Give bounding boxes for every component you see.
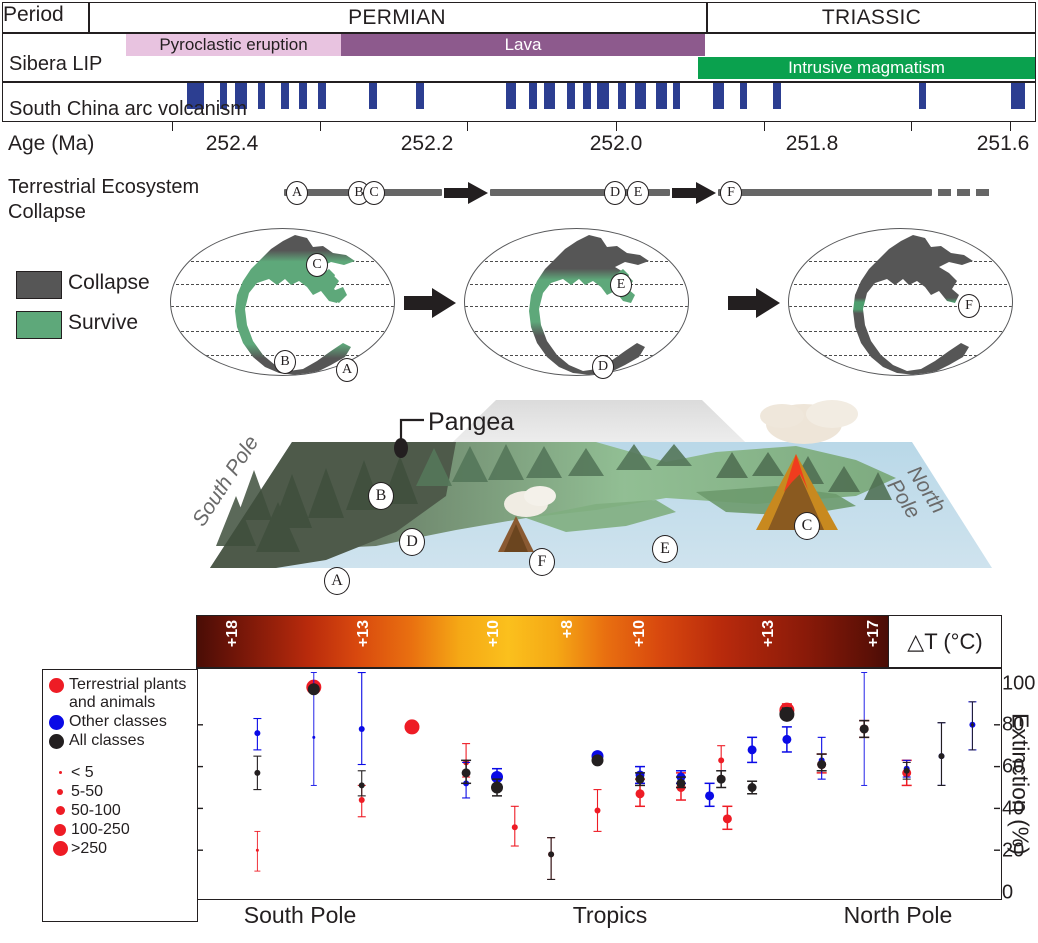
volcanism-bar: [740, 83, 747, 109]
eco-dash: [938, 189, 951, 196]
legend-size-row: >250: [49, 839, 191, 858]
data-point: [491, 782, 503, 794]
pangea-landmass-2: [465, 229, 689, 376]
legend-spacer: [49, 751, 191, 763]
volcanism-bar: [258, 83, 265, 109]
legend-size-dot: [56, 806, 65, 815]
legend-size-dot-slot: [49, 789, 71, 795]
scene-marker-e: E: [652, 535, 678, 563]
age-tick-label: 252.4: [206, 132, 259, 156]
volcanism-bar: [773, 83, 781, 109]
lip-band-pyroclastic: Pyroclastic eruption: [126, 34, 341, 56]
volcanism-bar: [1011, 83, 1025, 109]
sibera-lip-label: Sibera LIP: [9, 53, 102, 76]
volcanism-bar: [656, 83, 667, 109]
eco-dash: [957, 189, 970, 196]
data-point: [359, 797, 365, 803]
legend-size-row: < 5: [49, 763, 191, 782]
volcanism-label: South China arc volcanism: [9, 98, 247, 121]
legend-dot: [49, 715, 64, 730]
eco-segment-3: [718, 189, 932, 196]
temperature-gradient: +18+13+10+8+10+13+17: [197, 616, 888, 667]
data-point: [971, 723, 974, 726]
period-cell-permian: PERMIAN: [88, 3, 706, 32]
temperature-value: +10: [485, 620, 503, 647]
legend-size-dot-slot: [49, 771, 71, 774]
age-tick: [764, 122, 765, 131]
age-tick: [1010, 122, 1011, 131]
age-tick-label: 252.2: [401, 132, 454, 156]
data-point: [860, 724, 869, 733]
data-point: [904, 768, 910, 774]
legend-size-row: 5-50: [49, 782, 191, 801]
legend-class-row: Other classes: [49, 713, 191, 731]
data-point: [779, 707, 794, 722]
period-name: TRIASSIC: [822, 6, 921, 30]
globe-transition-arrow-2: [728, 288, 780, 318]
volcanism-bar: [544, 83, 555, 109]
scene-marker-c: C: [794, 512, 820, 540]
data-point: [676, 779, 685, 788]
age-tick: [172, 122, 173, 131]
lip-band-label: Lava: [505, 35, 542, 55]
eco-marker-a: A: [286, 181, 308, 205]
divider: [3, 81, 1035, 83]
eco-marker-e: E: [627, 181, 649, 205]
data-point: [592, 754, 604, 766]
age-axis-title: Age (Ma): [8, 132, 94, 156]
data-point: [254, 730, 260, 736]
globe-outline: [464, 228, 689, 376]
data-point: [254, 770, 260, 776]
lip-band-label: Intrusive magmatism: [788, 58, 945, 78]
legend-size-dot: [54, 824, 66, 836]
legend-size-row: 100-250: [49, 820, 191, 839]
series-terrestrial-plants-and-animals: [254, 680, 911, 880]
volcanism-bar: [318, 83, 326, 109]
x-category-north-pole: North Pole: [844, 902, 953, 929]
legend-swatch-collapse: [16, 271, 62, 299]
legend-size-label: 50-100: [71, 802, 121, 820]
age-axis: Age (Ma) 252.4252.2252.0251.8251.6: [0, 122, 1038, 168]
volcanism-bar: [416, 83, 424, 109]
legend-dot: [49, 734, 64, 749]
volcanism-bar: [529, 83, 537, 109]
temperature-colorbar: +18+13+10+8+10+13+17 △T (°C): [196, 615, 1002, 668]
data-point: [718, 757, 724, 763]
age-tick-label: 251.6: [977, 132, 1030, 156]
data-point: [636, 775, 645, 784]
temperature-value: +18: [224, 620, 242, 647]
data-point: [404, 719, 419, 734]
temperature-value: +13: [760, 620, 778, 647]
temperature-value: +13: [355, 620, 373, 647]
legend-class-row: All classes: [49, 732, 191, 750]
age-tick-label: 251.8: [786, 132, 839, 156]
data-point: [723, 814, 732, 823]
extinction-scatter-chart: [196, 668, 1002, 900]
period-name: PERMIAN: [348, 6, 446, 30]
data-point: [512, 824, 518, 830]
data-point: [359, 782, 365, 788]
volcanism-bar: [583, 83, 591, 109]
globe-transition-arrow-1: [404, 288, 456, 318]
data-point: [462, 768, 471, 777]
stratigraphic-table: Period PERMIAN TRIASSIC Sibera LIP Pyroc…: [2, 2, 1036, 122]
eco-dash: [976, 189, 989, 196]
data-point: [782, 735, 791, 744]
age-tick-label: 252.0: [590, 132, 643, 156]
data-point: [595, 807, 601, 813]
globe-marker-b: B: [274, 350, 296, 374]
legend-label-collapse: Collapse: [68, 271, 150, 295]
volcanism-bar: [281, 83, 289, 109]
volcanism-bar: [919, 83, 926, 109]
legend-class-row: Terrestrial plants and animals: [49, 676, 191, 712]
data-point: [938, 753, 944, 759]
scene-marker-b: B: [368, 482, 394, 510]
scene-marker-a: A: [324, 567, 350, 595]
ecosystem-timeline: ABCDEF: [0, 178, 1038, 212]
data-point: [717, 775, 726, 784]
legend-size-dot: [59, 771, 62, 774]
temperature-value: +10: [631, 620, 649, 647]
legend-size-label: < 5: [71, 764, 94, 782]
legend-dot: [49, 678, 64, 693]
eco-arrow-2: [672, 182, 716, 204]
chart-legend: Terrestrial plants and animalsOther clas…: [42, 669, 198, 922]
legend-size-dot: [53, 841, 68, 856]
globe-marker-d: D: [592, 355, 614, 379]
volcanism-bar: [369, 83, 377, 109]
globe-marker-c: C: [306, 253, 328, 277]
legend-label-survive: Survive: [68, 311, 138, 335]
y-axis-title: Extinction (%): [1002, 668, 1038, 900]
lip-band-lava: Lava: [341, 34, 705, 56]
legend-size-label: >250: [71, 840, 107, 858]
eco-marker-d: D: [604, 181, 626, 205]
legend-size-dot-slot: [49, 824, 71, 836]
legend-size-dot: [57, 789, 63, 795]
scene-marker-d: D: [399, 528, 425, 556]
globe-stage-1: CBA: [170, 228, 395, 376]
data-point: [312, 736, 315, 739]
data-point: [359, 726, 365, 732]
lip-band-label: Pyroclastic eruption: [159, 35, 307, 55]
data-point: [817, 760, 826, 769]
scatter-plot-canvas: [197, 669, 1000, 898]
legend-class-label: Other classes: [69, 713, 167, 731]
legend-swatch-survive: [16, 311, 62, 339]
eco-marker-f: F: [720, 181, 742, 205]
data-point: [548, 851, 554, 857]
data-point: [308, 683, 320, 695]
age-tick: [616, 122, 617, 131]
temperature-value: +8: [559, 620, 577, 638]
scene-marker-f: F: [529, 548, 555, 576]
globe-marker-a: A: [336, 358, 358, 382]
globe-marker-e: E: [610, 273, 632, 297]
legend-class-label: Terrestrial plants and animals: [69, 676, 191, 712]
age-tick: [320, 122, 321, 131]
lip-band-intrusive: Intrusive magmatism: [698, 57, 1035, 79]
legend-size-dot-slot: [49, 841, 71, 856]
x-category-south-pole: South Pole: [244, 902, 357, 929]
data-point: [256, 849, 259, 852]
volcanism-bar: [635, 83, 646, 109]
legend-size-row: 50-100: [49, 801, 191, 820]
eco-marker-c: C: [363, 181, 385, 205]
age-tick: [467, 122, 468, 131]
data-point: [748, 745, 757, 754]
temperature-axis-title: △T (°C): [888, 616, 1001, 667]
volcanism-bar: [567, 83, 575, 109]
legend-size-label: 5-50: [71, 783, 103, 801]
volcanism-bar: [713, 83, 724, 109]
data-point: [748, 783, 757, 792]
age-tick: [911, 122, 912, 131]
pangea-3d-scene: Pangea South Pole North Pole BDACEF: [196, 400, 1002, 615]
eco-arrow-1: [444, 182, 488, 204]
data-point: [705, 791, 714, 800]
temperature-value: +17: [865, 620, 883, 647]
x-category-tropics: Tropics: [573, 902, 648, 929]
volcanism-bar: [506, 83, 516, 109]
period-cell-triassic: TRIASSIC: [706, 3, 1037, 32]
data-point: [636, 789, 645, 798]
volcanism-bar: [673, 83, 680, 109]
globe-stage-2: ED: [464, 228, 689, 376]
globe-marker-f: F: [958, 294, 980, 318]
volcanism-bar: [618, 83, 626, 109]
volcanism-bar: [597, 83, 609, 109]
volcanism-bar: [299, 83, 307, 109]
legend-size-dot-slot: [49, 806, 71, 815]
pangea-label: Pangea: [428, 408, 514, 437]
legend-class-label: All classes: [69, 732, 145, 750]
legend-size-label: 100-250: [71, 821, 130, 839]
globe-stage-3: F: [788, 228, 1013, 376]
